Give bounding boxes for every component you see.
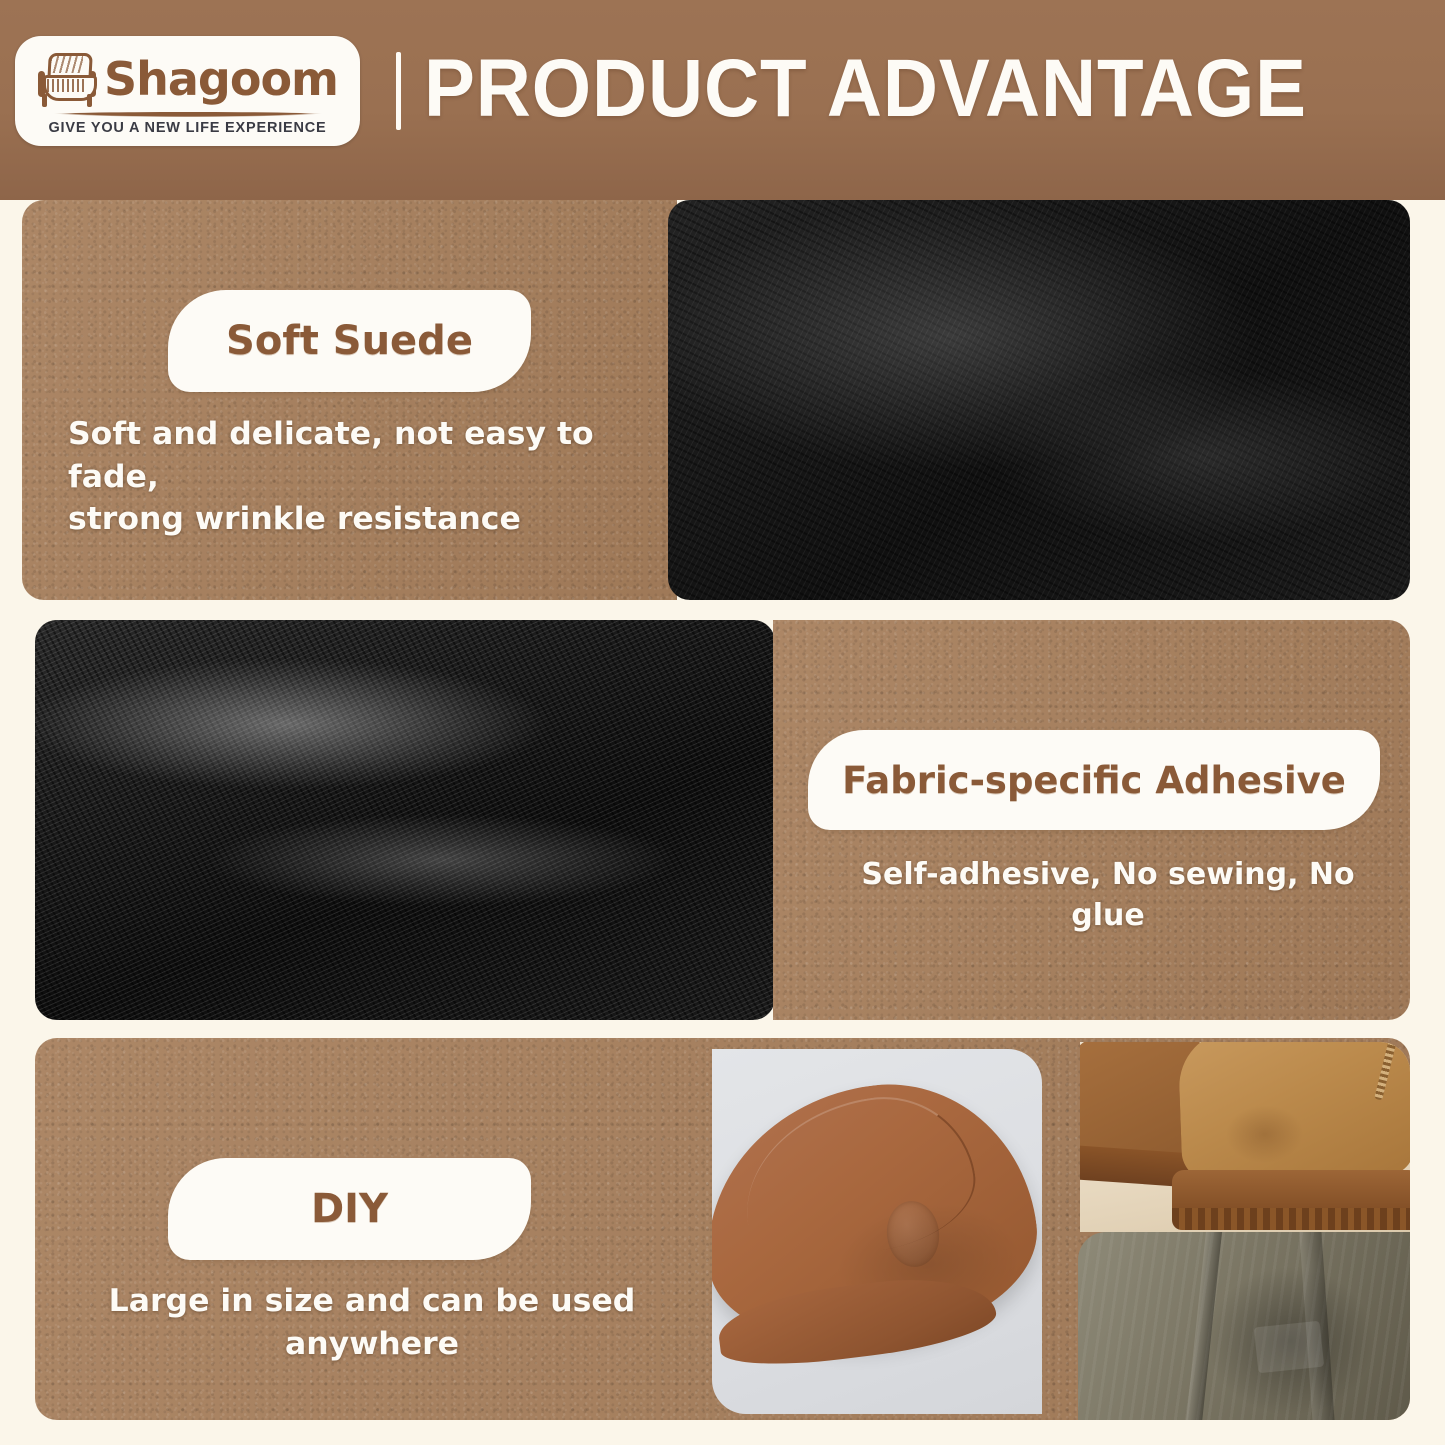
feature-description-soft-suede: Soft and delicate, not easy to fade, str… <box>68 413 643 541</box>
header-band: Shagoom GIVE YOU A NEW LIFE EXPERIENCE P… <box>0 0 1445 200</box>
feature-label-diy: DIY <box>168 1158 531 1260</box>
header-divider <box>396 52 401 130</box>
description-line: Large in size and can be used anywhere <box>62 1280 682 1365</box>
feature-label-soft-suede: Soft Suede <box>168 290 531 392</box>
feature-label-text: Fabric-specific Adhesive <box>842 762 1346 799</box>
logo-tagline: GIVE YOU A NEW LIFE EXPERIENCE <box>48 120 326 136</box>
logo-underline-swoosh <box>48 112 328 117</box>
feature-label-text: Soft Suede <box>226 321 473 361</box>
product-image-olive-suede-fabric <box>1078 1232 1410 1420</box>
logo-row: Shagoom <box>37 49 338 109</box>
product-advantage-infographic: Shagoom GIVE YOU A NEW LIFE EXPERIENCE P… <box>0 0 1445 1445</box>
feature-image-soft-suede <box>668 200 1410 600</box>
feature-label-adhesive: Fabric-specific Adhesive <box>808 730 1380 830</box>
logo-wordmark: Shagoom <box>104 56 338 102</box>
feature-description-diy: Large in size and can be used anywhere <box>62 1280 682 1365</box>
description-line: Soft and delicate, not easy to fade, <box>68 413 643 498</box>
page-title: PRODUCT ADVANTAGE <box>424 39 1307 139</box>
feature-label-text: DIY <box>311 1189 388 1229</box>
brand-logo: Shagoom GIVE YOU A NEW LIFE EXPERIENCE <box>15 36 360 146</box>
feature-description-adhesive: Self-adhesive, No sewing, No glue <box>828 855 1388 936</box>
description-line: Self-adhesive, No sewing, No glue <box>828 855 1388 936</box>
description-line: strong wrinkle resistance <box>68 498 643 541</box>
product-image-platform-slipper-boot <box>1080 1042 1410 1232</box>
armchair-icon <box>37 49 97 109</box>
product-image-suede-flat-cap <box>712 1049 1042 1414</box>
feature-image-adhesive <box>35 620 775 1020</box>
